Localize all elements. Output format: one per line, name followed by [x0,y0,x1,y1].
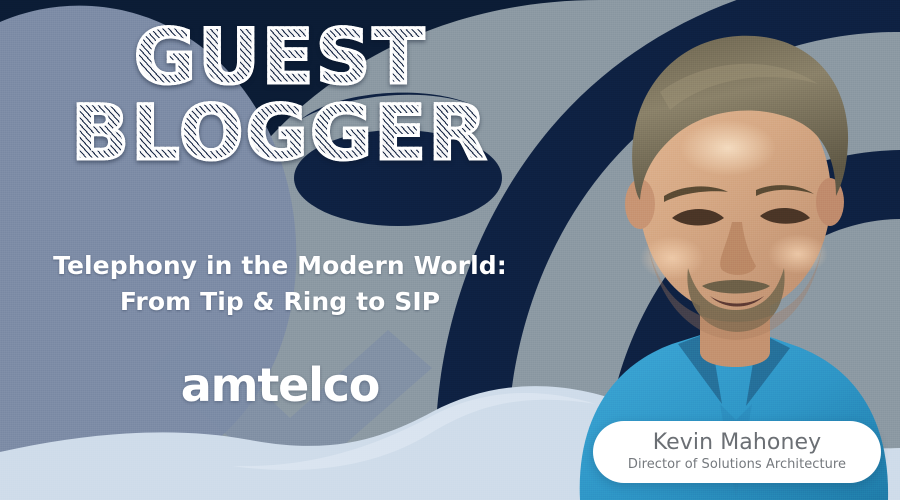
headline-line-2: BLOGGER [0,98,560,168]
subtitle-line-1: Telephony in the Modern World: [0,248,560,284]
headline: GUEST BLOGGER [0,22,560,168]
speaker-name: Kevin Mahoney [653,431,822,454]
subtitle: Telephony in the Modern World: From Tip … [0,248,560,319]
subtitle-line-2: From Tip & Ring to SIP [0,284,560,320]
brand-logo-text: amtelco [181,358,379,412]
cheek-right [768,234,828,274]
brand-logo: amtelco [0,358,560,412]
cheek-left [640,236,704,280]
speaker-card: Kevin Mahoney Director of Solutions Arch… [593,421,881,483]
forehead-highlight [680,120,776,176]
promo-banner: GUEST BLOGGER Telephony in the Modern Wo… [0,0,900,500]
speaker-title: Director of Solutions Architecture [628,457,846,473]
headline-line-1: GUEST [0,22,560,92]
